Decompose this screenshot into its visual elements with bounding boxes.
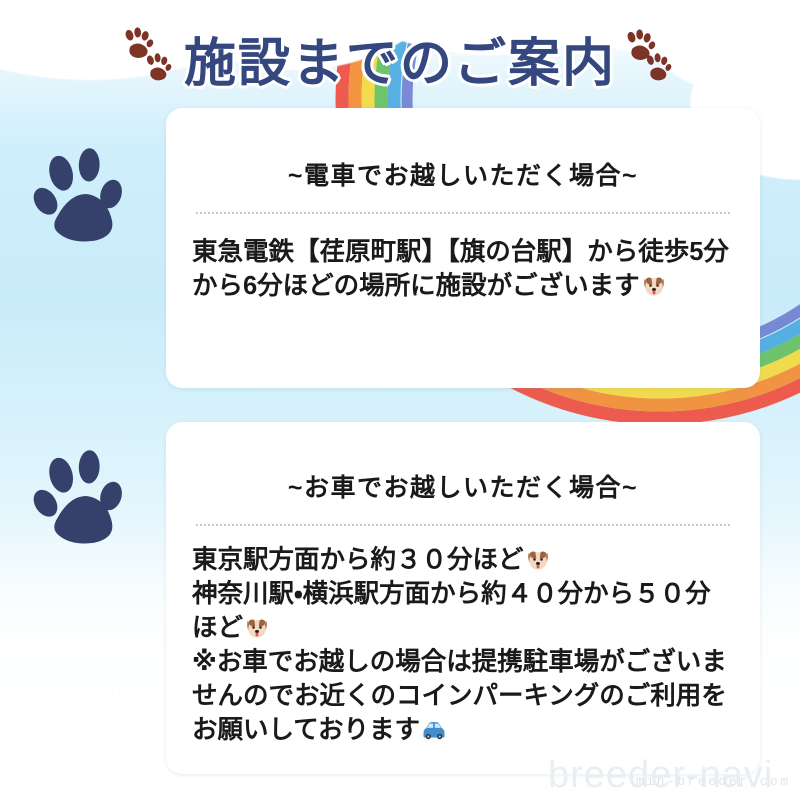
page-title: 施設までのご案内 — [184, 21, 616, 96]
poster-canvas: 施設までのご案内 — [0, 0, 800, 800]
card-divider — [196, 212, 730, 214]
page-header: 施設までのご案内 — [0, 16, 800, 100]
header-left-paws — [116, 23, 178, 93]
car-card-line-1: 東京駅方面から約３０分ほど — [192, 544, 734, 578]
dog-face-emoji — [524, 546, 552, 574]
car-card-text-1: 東京駅方面から約３０分ほど — [192, 546, 524, 574]
car-card-line-2: 神奈川駅・横浜駅方面から約４０分から５０分ほど — [192, 578, 734, 646]
dog-face-emoji — [243, 614, 271, 642]
car-card-body: 東京駅方面から約３０分ほど 神奈川駅・横浜駅方面から約４０分から５０分ほど ※お… — [192, 544, 734, 747]
train-access-card: ~電車でお越しいただく場合~ 東急電鉄【荏原町駅】【旗の台駅】から徒歩5分から6… — [166, 108, 760, 388]
header-right-paws — [622, 23, 684, 93]
car-card-text-3: ※お車でお越しの場合は提携駐車場がございませんのでお近くのコインパーキングのご利… — [192, 648, 727, 744]
paw-print-icon — [642, 53, 672, 83]
paw-print-icon — [32, 444, 136, 548]
train-card-heading: ~電車でお越しいただく場合~ — [192, 156, 734, 192]
train-card-body: 東急電鉄【荏原町駅】【旗の台駅】から徒歩5分から6分ほどの場所に施設がございます — [192, 236, 734, 304]
dog-face-emoji — [640, 272, 668, 300]
paw-print-icon — [32, 142, 136, 246]
car-card-heading: ~お車でお越しいただく場合~ — [192, 468, 734, 504]
car-access-card: ~お車でお越しいただく場合~ 東京駅方面から約３０分ほど 神奈川駅・横浜駅方面か… — [166, 422, 760, 774]
paw-print-icon — [142, 53, 172, 83]
card-divider — [196, 524, 730, 526]
train-card-line: 東急電鉄【荏原町駅】【旗の台駅】から徒歩5分から6分ほどの場所に施設がございます — [192, 236, 734, 304]
watermark-faint: みんブリ — [74, 684, 130, 703]
car-card-line-3: ※お車でお越しの場合は提携駐車場がございませんのでお近くのコインパーキングのご利… — [192, 646, 734, 748]
blue-car-emoji — [420, 716, 448, 744]
watermark-secondary: min-breeder.com — [636, 774, 791, 789]
